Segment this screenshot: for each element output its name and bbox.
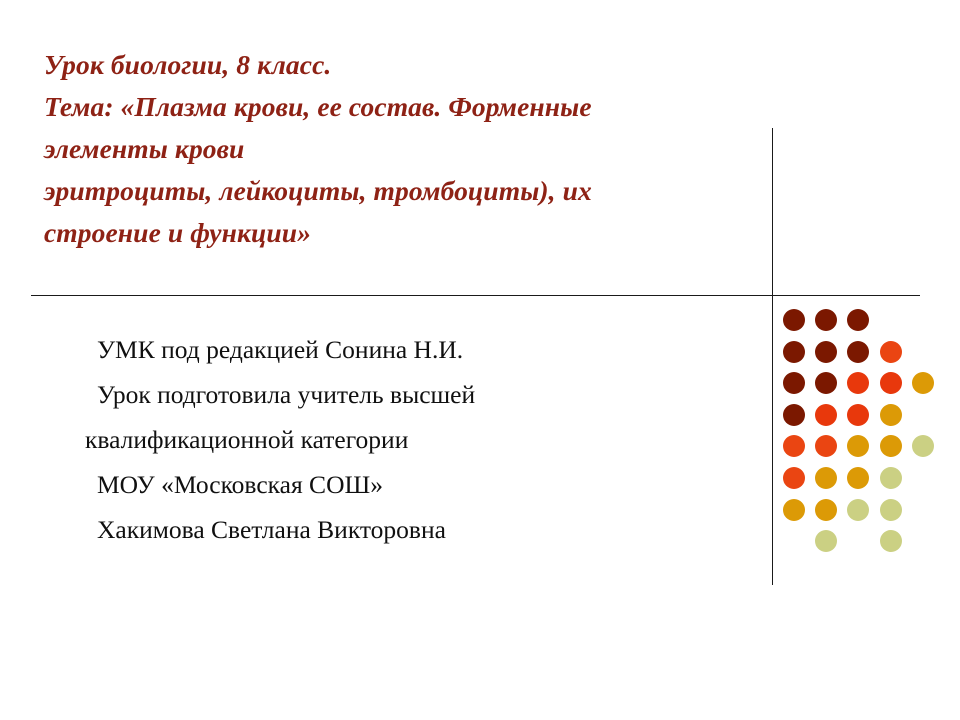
slide-title: Урок биологии, 8 класс. Тема: «Плазма кр…	[44, 44, 814, 254]
decorative-dot-grid	[783, 309, 943, 554]
dot-grid-dot	[783, 372, 805, 394]
title-line-4: эритроциты, лейкоциты, тромбоциты), их	[44, 170, 814, 212]
dot-grid-row	[783, 530, 943, 562]
horizontal-divider-line	[31, 295, 920, 296]
dot-grid-dot	[783, 341, 805, 363]
dot-grid-dot	[815, 372, 837, 394]
dot-grid-dot	[912, 435, 934, 457]
dot-grid-dot	[783, 467, 805, 489]
dot-grid-dot	[815, 499, 837, 521]
dot-grid-dot	[815, 309, 837, 331]
dot-grid-row	[783, 404, 943, 436]
slide-canvas: Урок биологии, 8 класс. Тема: «Плазма кр…	[0, 0, 960, 720]
dot-grid-dot	[880, 372, 902, 394]
dot-grid-dot	[880, 404, 902, 426]
dot-grid-dot	[783, 404, 805, 426]
dot-grid-dot	[815, 530, 837, 552]
dot-grid-dot	[815, 467, 837, 489]
dot-grid-dot	[847, 499, 869, 521]
dot-grid-dot	[847, 404, 869, 426]
body-paragraph-1: УМК под редакцией Сонина Н.И.	[85, 327, 685, 372]
dot-grid-row	[783, 435, 943, 467]
dot-grid-dot	[880, 530, 902, 552]
dot-grid-row	[783, 499, 943, 531]
title-line-1: Урок биологии, 8 класс.	[44, 44, 814, 86]
title-line-2: Тема: «Плазма крови, ее состав. Форменны…	[44, 86, 814, 128]
dot-grid-row	[783, 467, 943, 499]
dot-grid-dot	[880, 499, 902, 521]
dot-grid-dot	[847, 372, 869, 394]
dot-grid-row	[783, 341, 943, 373]
dot-grid-row	[783, 309, 943, 341]
dot-grid-dot	[880, 341, 902, 363]
dot-grid-dot	[880, 435, 902, 457]
dot-grid-dot	[880, 467, 902, 489]
dot-grid-dot	[847, 309, 869, 331]
dot-grid-row	[783, 372, 943, 404]
dot-grid-dot	[783, 309, 805, 331]
body-paragraph-4: Хакимова Светлана Викторовна	[85, 507, 685, 552]
body-paragraph-3: МОУ «Московская СОШ»	[85, 462, 685, 507]
title-line-5: строение и функции»	[44, 212, 814, 254]
slide-body: УМК под редакцией Сонина Н.И. Урок подго…	[85, 327, 685, 552]
dot-grid-dot	[847, 435, 869, 457]
dot-grid-dot	[912, 372, 934, 394]
dot-grid-dot	[815, 341, 837, 363]
title-line-3: элементы крови	[44, 128, 814, 170]
dot-grid-dot	[847, 341, 869, 363]
dot-grid-dot	[783, 435, 805, 457]
body-paragraph-2: Урок подготовила учитель высшей квалифик…	[85, 372, 685, 462]
dot-grid-dot	[783, 499, 805, 521]
dot-grid-dot	[815, 404, 837, 426]
dot-grid-dot	[847, 467, 869, 489]
dot-grid-dot	[815, 435, 837, 457]
